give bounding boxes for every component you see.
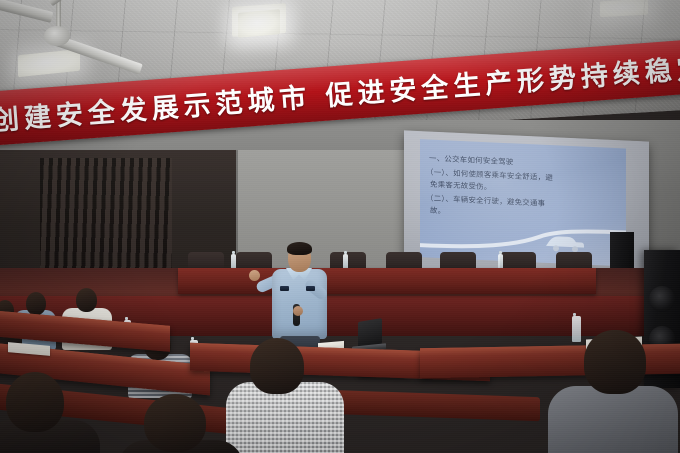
audience-head xyxy=(584,330,646,394)
photo-scene: 创建安全发展示范城市 促进安全生产形势持续稳定好 一、公交车如何安全驾驶 （一）… xyxy=(0,0,680,453)
audience-head xyxy=(76,288,97,312)
recessed-panel-light xyxy=(238,9,280,38)
audience-member-foreground-left xyxy=(0,372,100,453)
audience-head xyxy=(250,338,304,394)
presenter-badge xyxy=(280,286,289,291)
recessed-panel-light xyxy=(600,0,648,17)
audience-torso xyxy=(548,386,678,453)
audience-member-grey-shirt xyxy=(548,330,678,453)
audience-head xyxy=(26,292,46,315)
audience-member-checkered-shirt xyxy=(226,338,346,453)
fan-blade xyxy=(0,0,53,23)
presenter-left-hand xyxy=(293,306,303,316)
audience-member-foreground-center xyxy=(118,394,244,453)
audience-head xyxy=(6,372,64,432)
presenter-uniform-shirt xyxy=(272,269,327,339)
presentation-slide: 一、公交车如何安全驾驶 （一）、如何使顾客乘车安全舒适，避 免乘客无故受伤。 （… xyxy=(420,139,626,266)
ceiling-fan-icon xyxy=(0,2,152,72)
head-table xyxy=(178,268,596,294)
presenter-right-hand xyxy=(249,270,260,281)
speaker-woofer xyxy=(649,286,675,312)
water-bottle xyxy=(343,254,348,269)
fan-hub xyxy=(44,26,70,46)
audience-head xyxy=(144,394,206,452)
water-bottle xyxy=(498,254,503,269)
presenter-badge xyxy=(306,286,315,291)
water-bottle xyxy=(231,254,236,269)
presenter-hair xyxy=(287,242,312,255)
fan-rod xyxy=(56,0,61,28)
slide-line-3: 免乘客无故受伤。 xyxy=(430,180,492,193)
slide-line-1: 一、公交车如何安全驾驶 xyxy=(429,154,514,168)
slide-line-5: 故。 xyxy=(430,206,445,217)
